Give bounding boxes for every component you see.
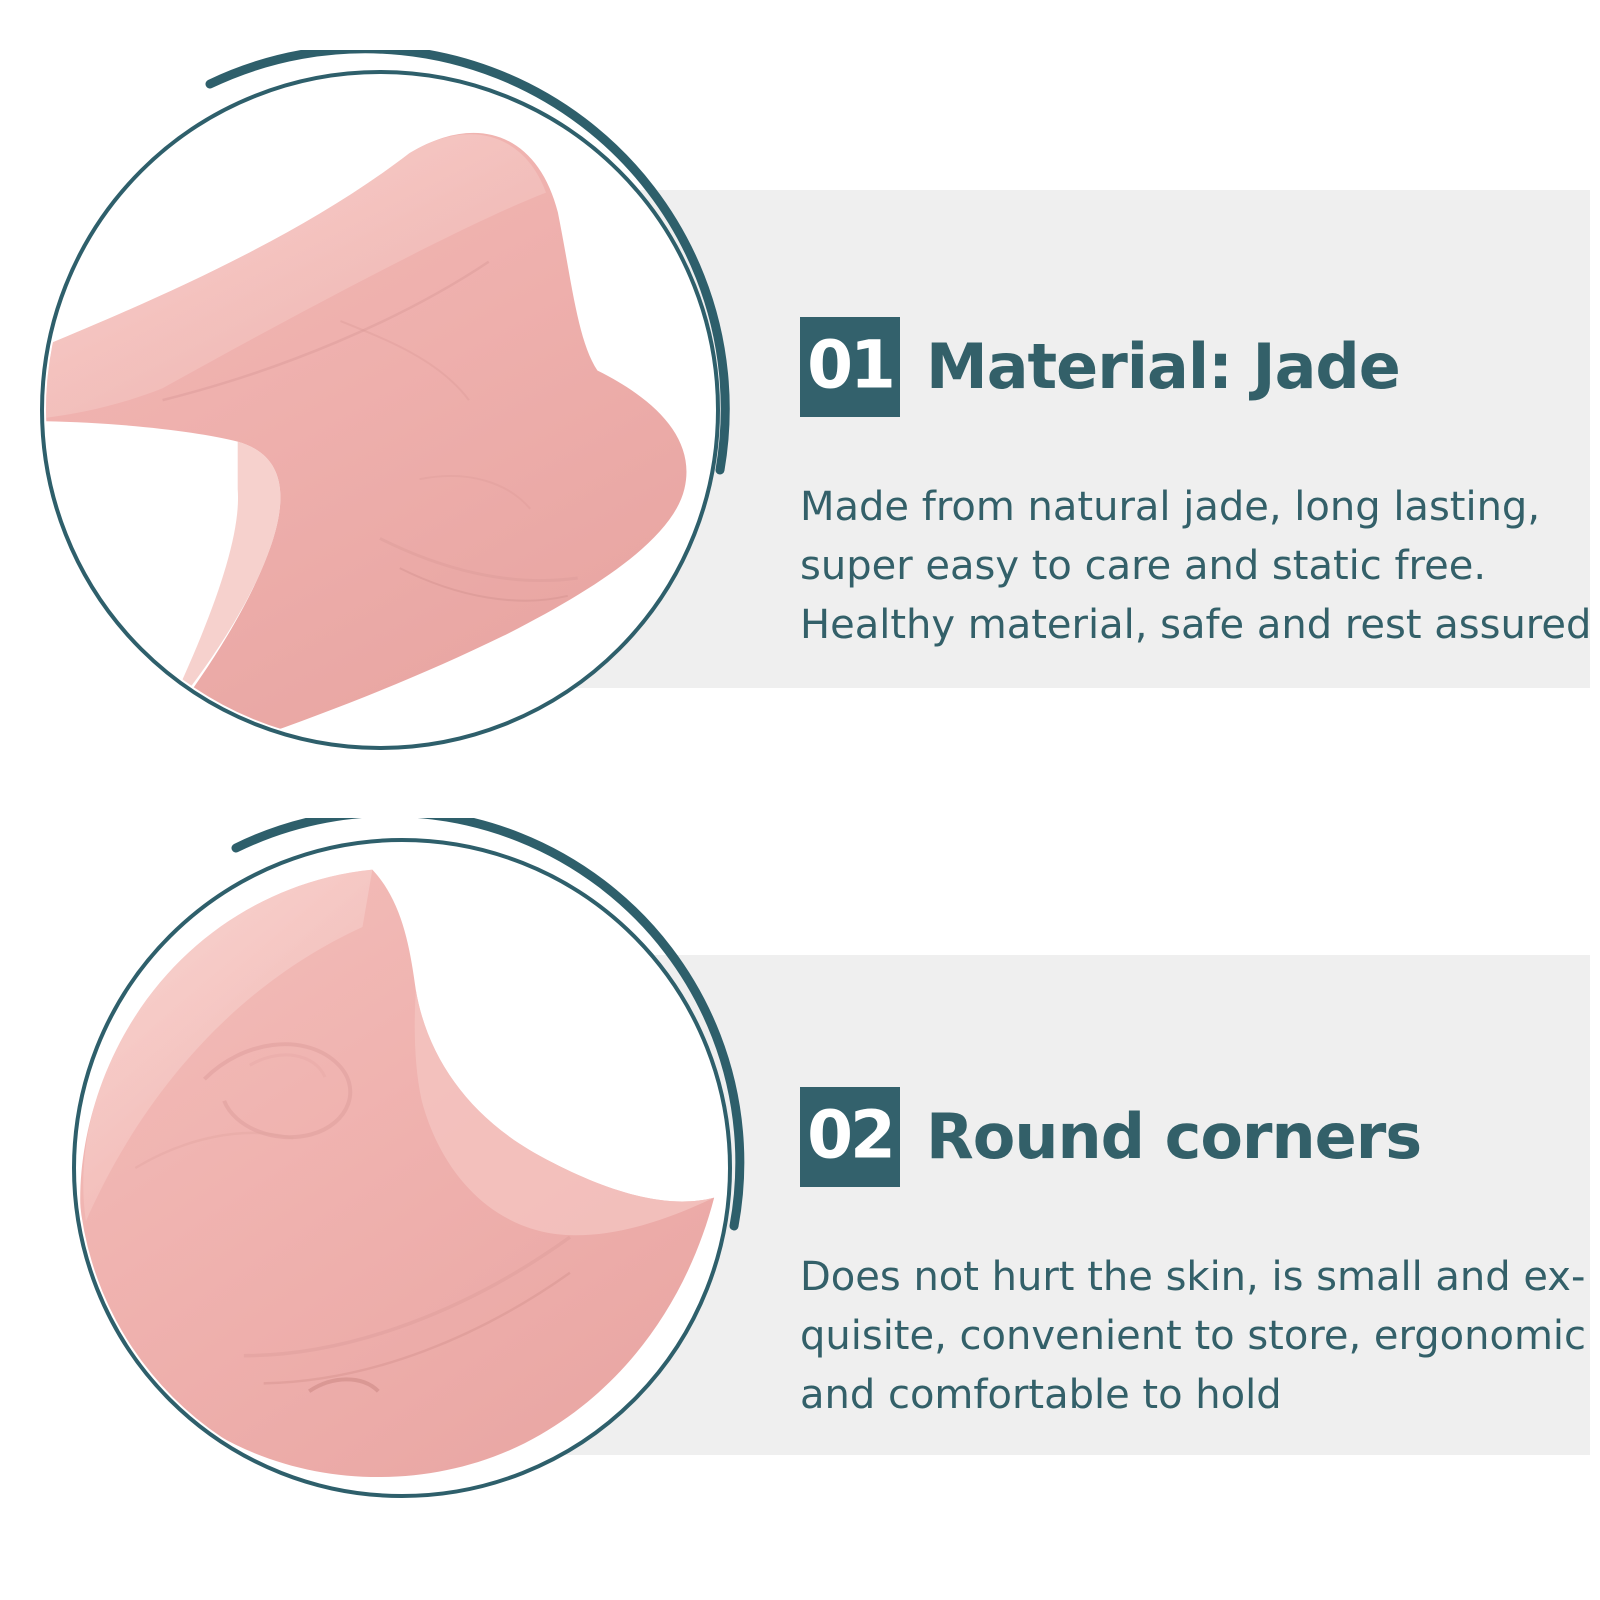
feature-body-01: Made from natural jade, long lasting, su… (800, 478, 1590, 656)
body-line: super easy to care and static free. (800, 537, 1590, 596)
feature-heading-02: Round corners (926, 1106, 1421, 1168)
number-badge-label: 01 (800, 333, 900, 399)
gua-sha-stone-illustration (76, 842, 728, 1494)
body-line: Does not hurt the skin, is small and ex- (800, 1248, 1586, 1307)
feature-section-02: 02 Round corners Does not hurt the skin,… (0, 800, 1600, 1600)
gua-sha-stone-illustration (44, 74, 716, 746)
feature-heading-row-02: 02 Round corners (800, 1055, 1586, 1220)
product-photo-circle-02 (72, 838, 732, 1498)
product-feature-infographic: 01 Material: Jade Made from natural jade… (0, 0, 1600, 1600)
feature-heading-row-01: 01 Material: Jade (800, 285, 1590, 450)
body-line: and comfortable to hold (800, 1366, 1586, 1425)
body-line: Healthy material, safe and rest assured (800, 596, 1590, 655)
feature-body-02: Does not hurt the skin, is small and ex-… (800, 1248, 1586, 1426)
feature-section-01: 01 Material: Jade Made from natural jade… (0, 0, 1600, 800)
feature-heading-01: Material: Jade (926, 336, 1400, 398)
body-line: Made from natural jade, long lasting, (800, 478, 1590, 537)
number-badge-01: 01 (800, 317, 900, 417)
number-badge-label: 02 (800, 1103, 900, 1169)
feature-text-block-02: 02 Round corners Does not hurt the skin,… (800, 1055, 1586, 1425)
feature-text-block-01: 01 Material: Jade Made from natural jade… (800, 285, 1590, 655)
body-line: quisite, convenient to store, ergonomic (800, 1307, 1586, 1366)
number-badge-02: 02 (800, 1087, 900, 1187)
product-photo-circle-01 (40, 70, 720, 750)
